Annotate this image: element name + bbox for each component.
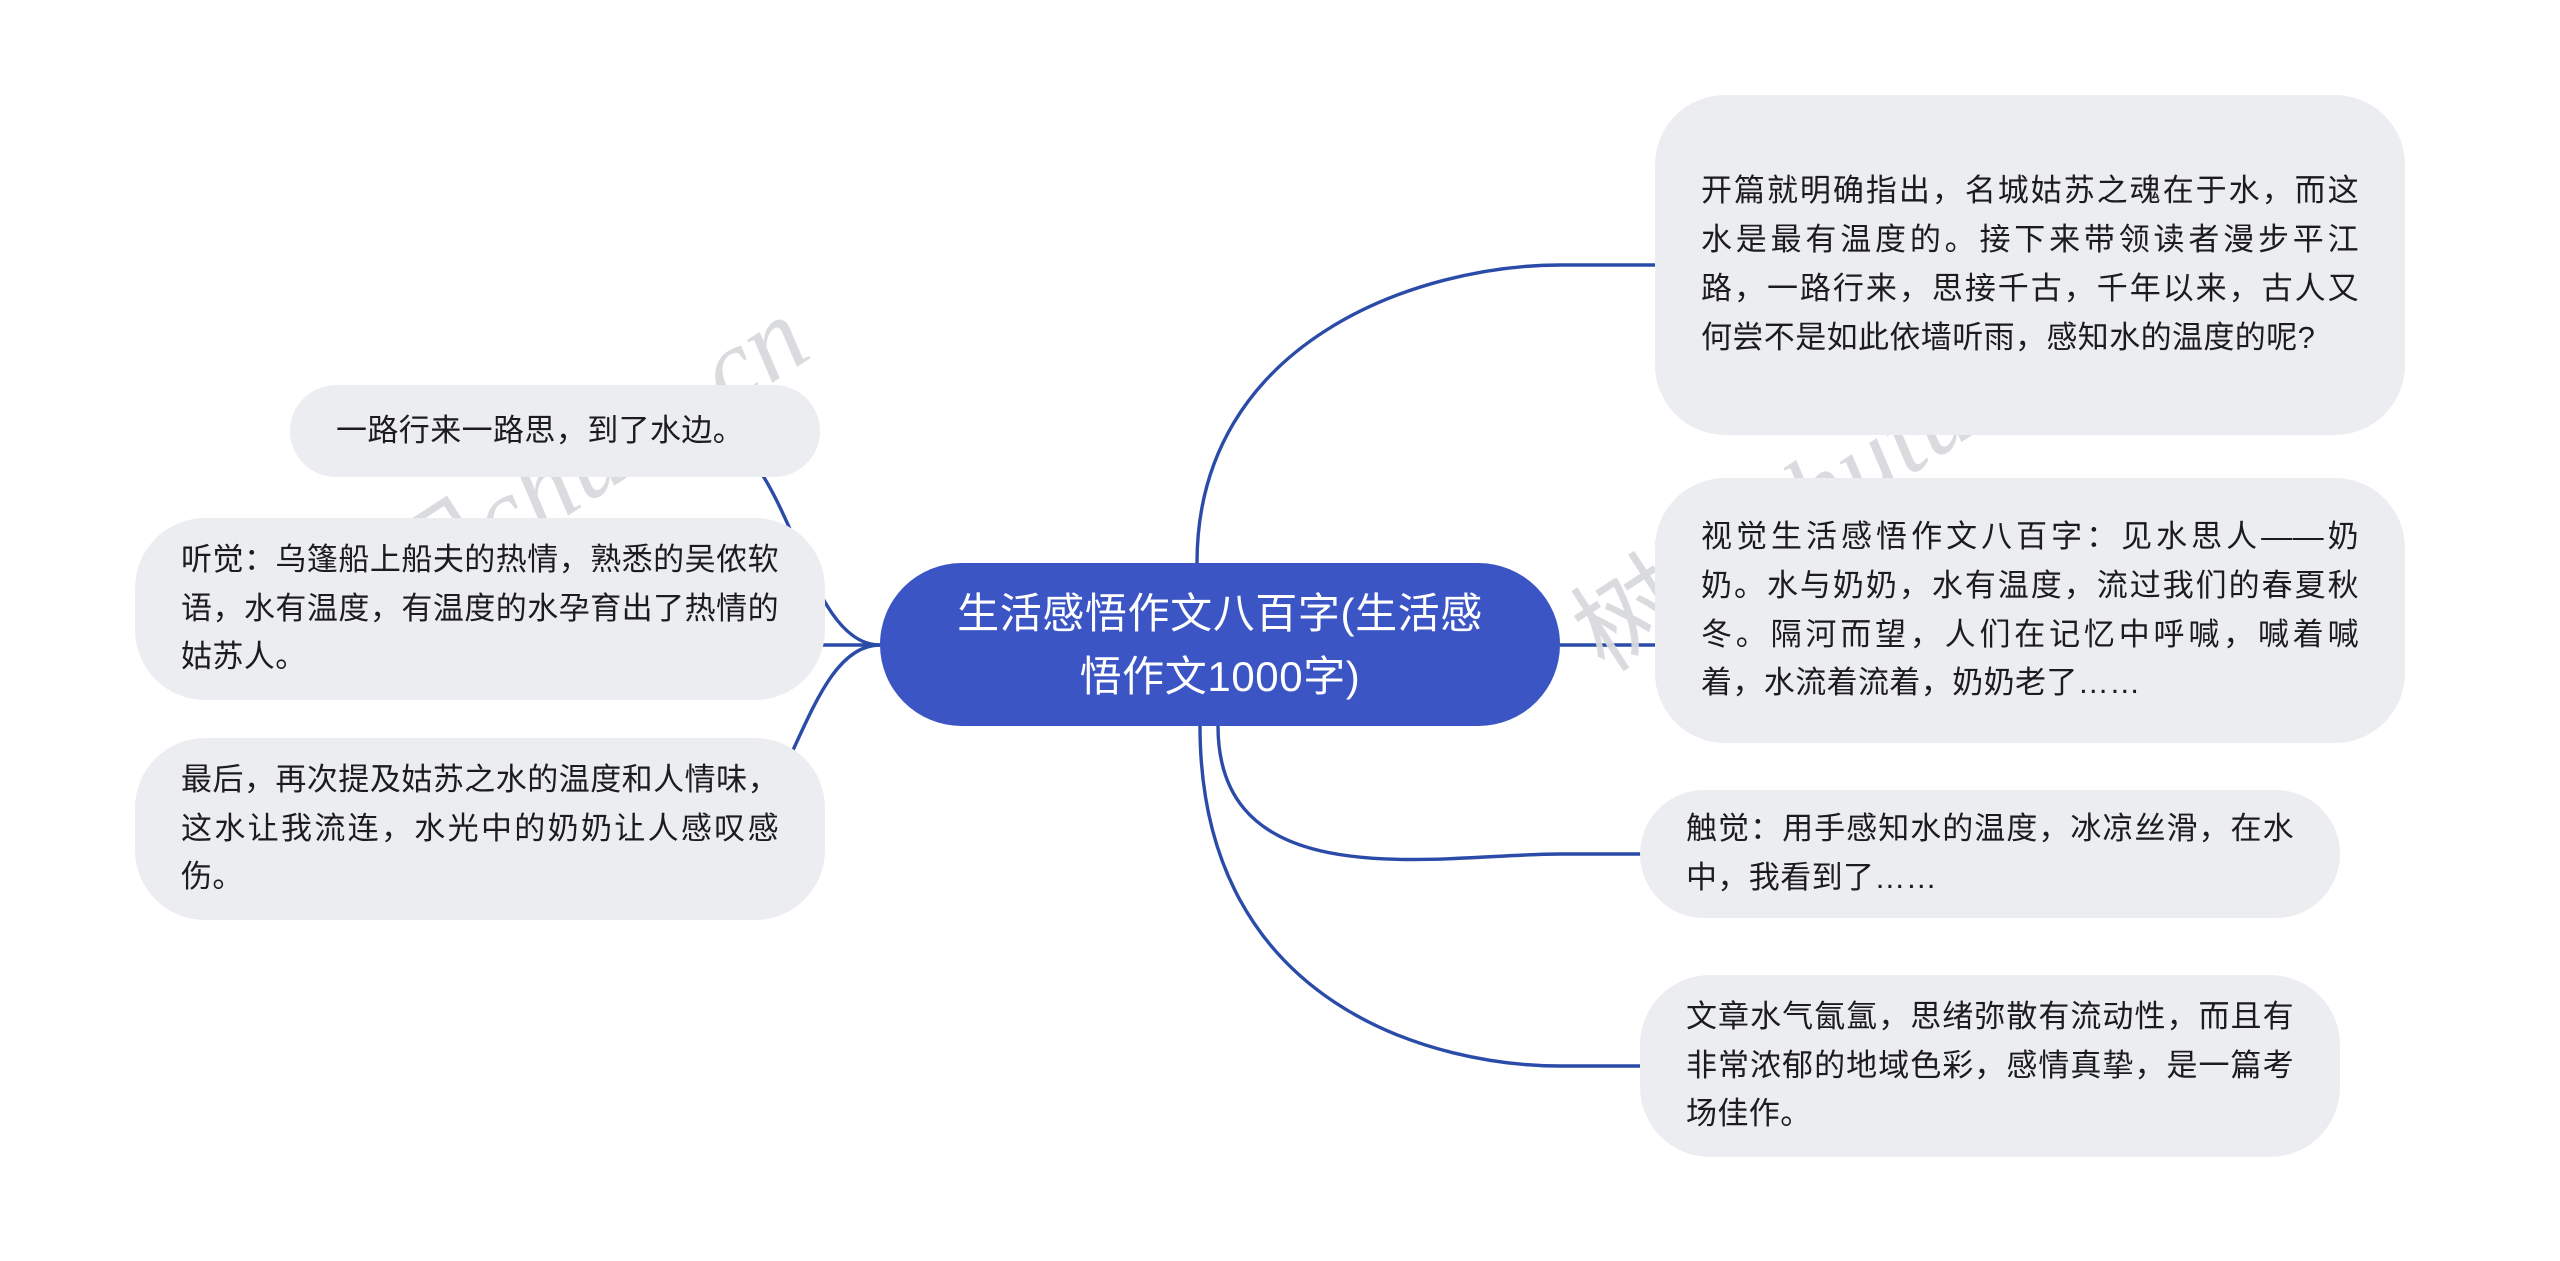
edge-root-to-r3 [1218,726,1648,860]
branch-node-right-4[interactable]: 文章水气氤氲，思绪弥散有流动性，而且有非常浓郁的地域色彩，感情真挚，是一篇考场佳… [1640,975,2340,1157]
root-node-label: 生活感悟作文八百字(生活感悟作文1000字) [936,582,1504,708]
edge-root-to-r1 [1197,265,1660,563]
branch-node-right-2-label: 视觉生活感悟作文八百字：见水思人——奶奶。水与奶奶，水有温度，流过我们的春夏秋冬… [1701,513,2359,709]
branch-node-right-4-label: 文章水气氤氲，思绪弥散有流动性，而且有非常浓郁的地域色彩，感情真挚，是一篇考场佳… [1686,993,2294,1140]
branch-node-left-2[interactable]: 听觉：乌篷船上船夫的热情，熟悉的吴侬软语，水有温度，有温度的水孕育出了热情的姑苏… [135,518,825,700]
branch-node-right-1-label: 开篇就明确指出，名城姑苏之魂在于水，而这水是最有温度的。接下来带领读者漫步平江路… [1701,167,2359,363]
branch-node-right-1[interactable]: 开篇就明确指出，名城姑苏之魂在于水，而这水是最有温度的。接下来带领读者漫步平江路… [1655,95,2405,435]
branch-node-right-2[interactable]: 视觉生活感悟作文八百字：见水思人——奶奶。水与奶奶，水有温度，流过我们的春夏秋冬… [1655,478,2405,743]
branch-node-right-3-label: 触觉：用手感知水的温度，冰凉丝滑，在水中，我看到了…… [1686,805,2294,903]
branch-node-right-3[interactable]: 触觉：用手感知水的温度，冰凉丝滑，在水中，我看到了…… [1640,790,2340,918]
mindmap-canvas: 树图chutu.cn 树图shutu.cn 生活感悟作文八百字(生活感悟作文10… [0,0,2560,1261]
branch-node-left-1[interactable]: 一路行来一路思，到了水边。 [290,385,820,477]
branch-node-left-2-label: 听觉：乌篷船上船夫的热情，熟悉的吴侬软语，水有温度，有温度的水孕育出了热情的姑苏… [181,536,779,683]
branch-node-left-3-label: 最后，再次提及姑苏之水的温度和人情味，这水让我流连，水光中的奶奶让人感叹感伤。 [181,756,779,903]
branch-node-left-3[interactable]: 最后，再次提及姑苏之水的温度和人情味，这水让我流连，水光中的奶奶让人感叹感伤。 [135,738,825,920]
edge-root-to-r4 [1200,726,1648,1066]
root-node[interactable]: 生活感悟作文八百字(生活感悟作文1000字) [880,563,1560,726]
branch-node-left-1-label: 一路行来一路思，到了水边。 [336,407,774,456]
